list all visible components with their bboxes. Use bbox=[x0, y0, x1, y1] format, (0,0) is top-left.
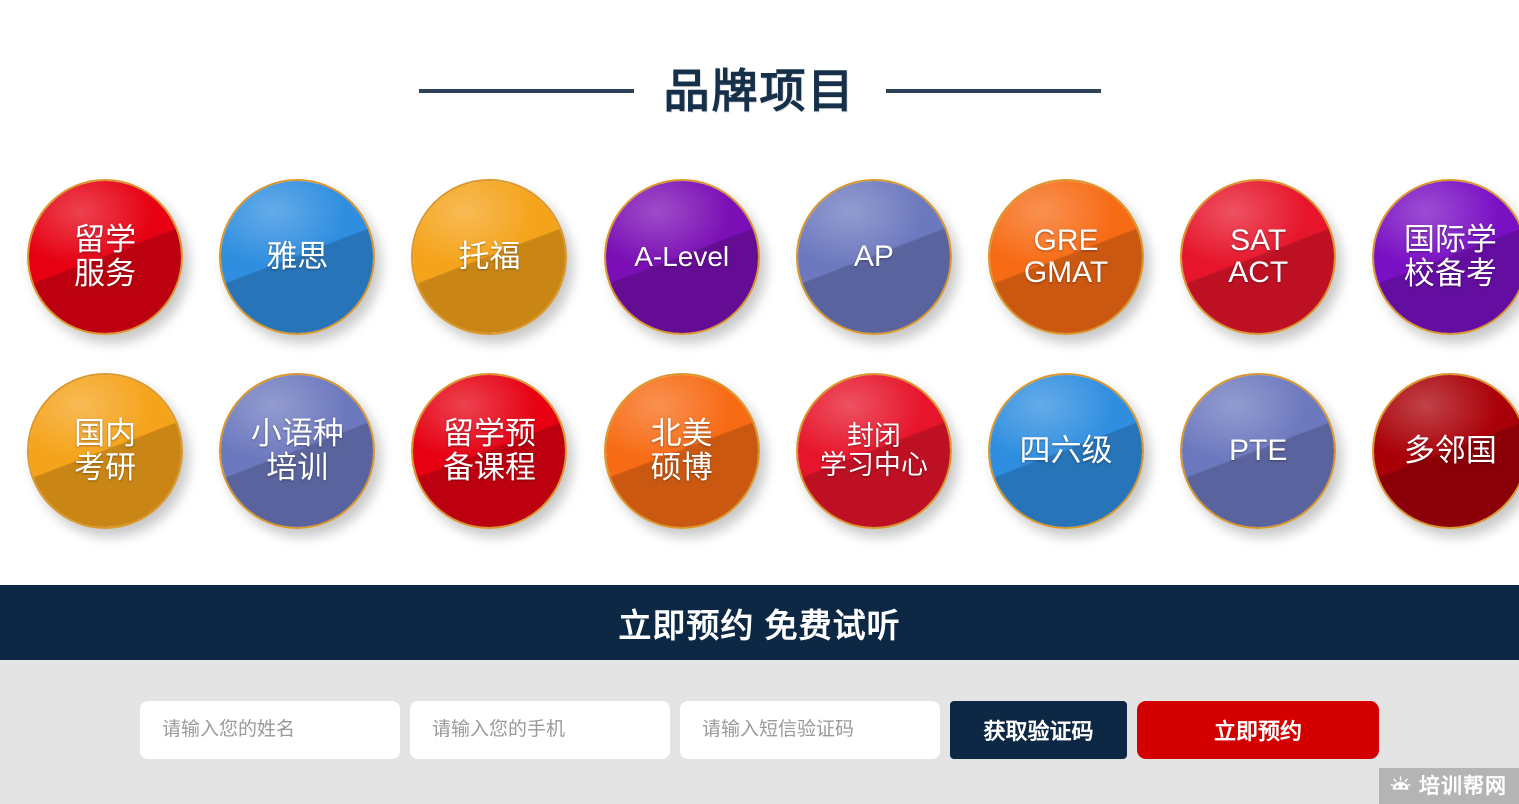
section-header: 品牌项目 bbox=[0, 0, 1519, 160]
program-label-line: 学习中心 bbox=[820, 451, 928, 479]
program-grid: 留学服务雅思托福A-LevelAPGREGMATSATACT国际学校备考 国内考… bbox=[0, 160, 1519, 548]
program-cell: AP bbox=[778, 160, 970, 353]
program-label-line: PTE bbox=[1229, 435, 1287, 467]
program-label-line: ACT bbox=[1228, 257, 1288, 289]
name-input[interactable] bbox=[140, 701, 400, 759]
phone-input[interactable] bbox=[410, 701, 670, 759]
title-rule-right bbox=[886, 89, 1101, 93]
program-bubble-gre-gmat[interactable]: GREGMAT bbox=[988, 179, 1144, 335]
program-cell: GREGMAT bbox=[970, 160, 1162, 353]
program-label-line: 校备考 bbox=[1404, 257, 1497, 290]
program-label-line: AP bbox=[854, 241, 894, 273]
program-bubble-fengbi-zhongxin[interactable]: 封闭学习中心 bbox=[796, 373, 952, 529]
program-label-line: GRE bbox=[1024, 225, 1108, 257]
program-cell: 北美硕博 bbox=[586, 353, 778, 548]
program-row-2: 国内考研小语种培训留学预备课程北美硕博封闭学习中心四六级PTE多邻国 bbox=[0, 353, 1519, 548]
program-bubble-beimei-shuobo[interactable]: 北美硕博 bbox=[604, 373, 760, 529]
program-bubble-guoji-xuexiao[interactable]: 国际学校备考 bbox=[1372, 179, 1519, 335]
program-label: AP bbox=[854, 241, 894, 273]
program-cell: 留学预备课程 bbox=[393, 353, 585, 548]
program-label-line: 服务 bbox=[74, 257, 136, 290]
program-cell: 国内考研 bbox=[9, 353, 201, 548]
sms-code-input[interactable] bbox=[680, 701, 940, 759]
page-title: 品牌项目 bbox=[664, 68, 856, 114]
program-label-line: 硕博 bbox=[651, 451, 713, 484]
program-bubble-ap[interactable]: AP bbox=[796, 179, 952, 335]
program-label-line: 国际学 bbox=[1404, 223, 1497, 256]
program-label-line: GMAT bbox=[1024, 257, 1108, 289]
program-cell: 四六级 bbox=[970, 353, 1162, 548]
program-bubble-liuxue-fuwu[interactable]: 留学服务 bbox=[27, 179, 183, 335]
program-bubble-yasi[interactable]: 雅思 bbox=[219, 179, 375, 335]
cta-headline: 立即预约 免费试听 bbox=[618, 599, 900, 647]
site-watermark: 培训帮网 bbox=[1379, 768, 1519, 804]
program-label-line: 考研 bbox=[74, 451, 136, 484]
program-label: 国际学校备考 bbox=[1404, 223, 1497, 290]
program-label: 托福 bbox=[458, 240, 520, 273]
program-row-1: 留学服务雅思托福A-LevelAPGREGMATSATACT国际学校备考 bbox=[0, 160, 1519, 353]
program-label-line: 留学预 bbox=[443, 417, 536, 450]
program-bubble-siliuji[interactable]: 四六级 bbox=[988, 373, 1144, 529]
program-cell: 多邻国 bbox=[1354, 353, 1519, 548]
program-label-line: 多邻国 bbox=[1404, 434, 1497, 467]
program-label-line: 雅思 bbox=[266, 240, 328, 273]
program-label-line: 四六级 bbox=[1020, 434, 1113, 467]
program-label: PTE bbox=[1229, 435, 1287, 467]
cta-band: 立即预约 免费试听 bbox=[0, 585, 1519, 660]
program-label: 封闭学习中心 bbox=[820, 422, 928, 479]
program-label-line: A-Level bbox=[634, 242, 729, 271]
program-label-line: 备课程 bbox=[443, 451, 536, 484]
program-label-line: 北美 bbox=[651, 417, 713, 450]
program-bubble-duolingguo[interactable]: 多邻国 bbox=[1372, 373, 1519, 529]
booking-form-strip: 获取验证码 立即预约 bbox=[0, 660, 1519, 804]
program-label: 多邻国 bbox=[1404, 434, 1497, 467]
program-cell: SATACT bbox=[1162, 160, 1354, 353]
program-bubble-guonei-kaoyan[interactable]: 国内考研 bbox=[27, 373, 183, 529]
program-label: 四六级 bbox=[1020, 434, 1113, 467]
sun-face-icon bbox=[1389, 775, 1412, 798]
program-label-line: 留学 bbox=[74, 223, 136, 256]
program-label-line: 封闭 bbox=[820, 422, 928, 450]
program-bubble-a-level[interactable]: A-Level bbox=[604, 179, 760, 335]
program-label-line: SAT bbox=[1228, 225, 1288, 257]
program-cell: 封闭学习中心 bbox=[778, 353, 970, 548]
program-label: 留学预备课程 bbox=[443, 417, 536, 484]
program-label: 留学服务 bbox=[74, 223, 136, 290]
submit-booking-button[interactable]: 立即预约 bbox=[1137, 701, 1379, 759]
program-label: A-Level bbox=[634, 242, 729, 271]
get-verification-code-button[interactable]: 获取验证码 bbox=[950, 701, 1127, 759]
program-label-line: 托福 bbox=[458, 240, 520, 273]
program-label: 雅思 bbox=[266, 240, 328, 273]
program-label-line: 培训 bbox=[251, 451, 344, 484]
program-bubble-xiaoyuzhong[interactable]: 小语种培训 bbox=[219, 373, 375, 529]
program-label-line: 国内 bbox=[74, 417, 136, 450]
program-bubble-sat-act[interactable]: SATACT bbox=[1180, 179, 1336, 335]
program-cell: PTE bbox=[1162, 353, 1354, 548]
program-label: 北美硕博 bbox=[651, 417, 713, 484]
program-label: SATACT bbox=[1228, 225, 1288, 288]
program-bubble-liuxue-yubei[interactable]: 留学预备课程 bbox=[411, 373, 567, 529]
program-label: 小语种培训 bbox=[251, 417, 344, 484]
title-rule-left bbox=[419, 89, 634, 93]
program-bubble-pte[interactable]: PTE bbox=[1180, 373, 1336, 529]
program-bubble-tuofu[interactable]: 托福 bbox=[411, 179, 567, 335]
program-cell: 国际学校备考 bbox=[1354, 160, 1519, 353]
program-label: GREGMAT bbox=[1024, 225, 1108, 288]
program-label: 国内考研 bbox=[74, 417, 136, 484]
booking-form: 获取验证码 立即预约 bbox=[140, 701, 1379, 759]
program-cell: 小语种培训 bbox=[201, 353, 393, 548]
watermark-label: 培训帮网 bbox=[1419, 776, 1507, 797]
program-cell: 雅思 bbox=[201, 160, 393, 353]
program-cell: A-Level bbox=[586, 160, 778, 353]
program-cell: 托福 bbox=[393, 160, 585, 353]
program-cell: 留学服务 bbox=[9, 160, 201, 353]
program-label-line: 小语种 bbox=[251, 417, 344, 450]
